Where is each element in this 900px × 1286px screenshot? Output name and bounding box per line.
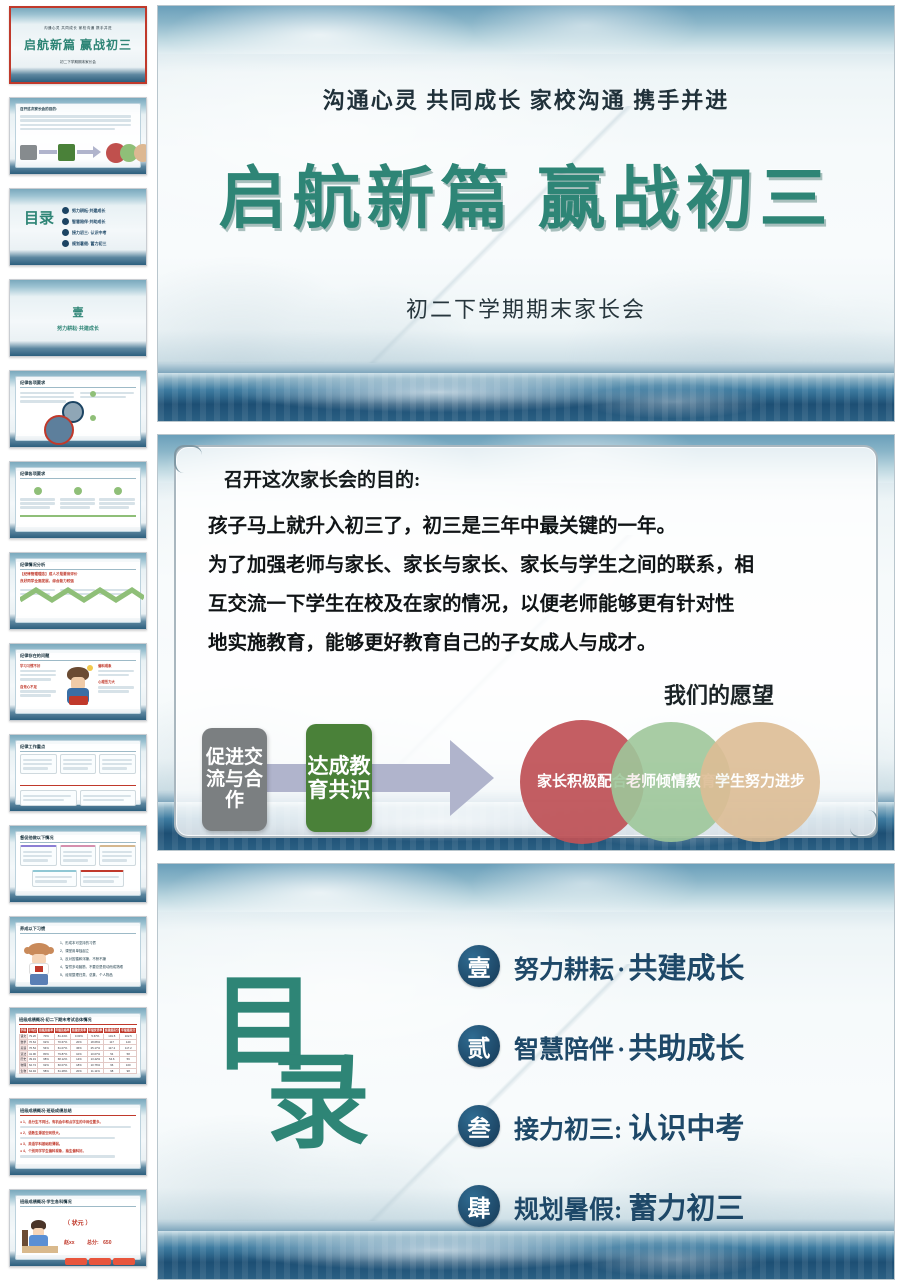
slide-title[interactable]: 沟通心灵 共同成长 家校沟通 携手并进 启航新篇 赢战初三 初二下学期期末家长会: [157, 5, 895, 422]
purpose-heading: 召开这次家长会的目的:: [224, 465, 420, 492]
contents-label-2-sep: ·: [614, 1037, 628, 1064]
title-slide-footer: 初二下学期期末家长会: [158, 292, 894, 324]
table-row: 生物64.9458%61.28%20%11.11%9898: [20, 1068, 137, 1074]
champion-total-label: 总分:: [87, 1240, 99, 1246]
wish-label: 我们的愿望: [664, 678, 774, 710]
thumb1-foot: 初二下学期期末家长会: [60, 60, 96, 65]
sidebar-thumbnail-11[interactable]: 养成以下习惯 1、形成本可坚持的习惯 2、课堂用单独起立 3、反对因循和浮躁，不…: [9, 916, 147, 994]
contents-badge-2: 贰: [458, 1025, 500, 1067]
presentation-viewer: 沟通心灵 共同成长 家校沟通 携手并进 启航新篇 赢战初三 初二下学期期末家长会…: [0, 0, 900, 1286]
purpose-line-2: 为了加强老师与家长、家长与家长、家长与学生之间的联系，相: [208, 546, 858, 585]
grade-table-cell: 20%: [71, 1068, 87, 1074]
sidebar-thumbnail-8[interactable]: 纪律存在的问题 学习习惯不好 自觉心不足 偏科现象 心理压力大: [9, 643, 147, 721]
slide-thumbnail-sidebar[interactable]: 沟通心灵 共同成长 家校沟通 携手并进 启航新篇 赢战初三 初二下学期期末家长会…: [0, 0, 155, 1286]
water-band: [158, 373, 894, 421]
sky-band: [158, 864, 894, 912]
thumb2-title: 召开这次家长会的目的:: [20, 107, 136, 112]
sidebar-thumbnail-3[interactable]: 目录 努力耕耘·共建成长 智慧陪伴·共助成长 接力初三: 认识中考 规划暑假: …: [9, 188, 147, 266]
wish-circle-3: 学生努力进步: [700, 722, 820, 842]
grade-table-cell: 98: [120, 1068, 137, 1074]
slide-contents[interactable]: 目 录 壹 努力耕耘·共建成长 贰 智慧陪伴·共助成长 叁: [157, 863, 895, 1280]
contents-label-4-a: 规划暑假:: [514, 1197, 622, 1224]
contents-heading-char-2: 录: [266, 1052, 370, 1156]
champion-badge: 状元: [72, 1221, 84, 1227]
contents-item-3[interactable]: 叁 接力初三:认识中考: [458, 1086, 878, 1166]
contents-heading: 目 录: [204, 974, 384, 1204]
champion-total-value: 650: [103, 1240, 111, 1246]
contents-label-2-a: 智慧陪伴: [514, 1037, 614, 1064]
thumb6-title: 纪律各项要求: [20, 471, 136, 479]
thumb12-title: 班级成绩概况-初二下期末考试总体情况: [19, 1017, 137, 1025]
contents-item-2[interactable]: 贰 智慧陪伴·共助成长: [458, 1006, 878, 1086]
sidebar-thumbnail-10[interactable]: 督促他做以下情况: [9, 825, 147, 903]
thumb1-title: 启航新篇 赢战初三: [24, 36, 132, 53]
grade-table-cell: 64.94: [27, 1068, 38, 1074]
purpose-line-3: 互交流一下学生在校及在家的情况，以便老师能够更有针对性: [208, 585, 858, 624]
thumb13-title: 班级成绩概况-班级成绩总结: [20, 1108, 136, 1116]
contents-label-4-b: 蓄力初三: [628, 1193, 744, 1225]
flow-arrow-head: [450, 740, 494, 816]
sidebar-thumbnail-6[interactable]: 纪律各项要求: [9, 461, 147, 539]
sidebar-thumbnail-2[interactable]: 召开这次家长会的目的:: [9, 97, 147, 175]
thumb4-sub: 努力耕耘·共建成长: [57, 325, 99, 332]
sidebar-thumbnail-14[interactable]: 班级成绩概况-学生各科情况 （ 状元 ） 赵xx 总分: 650: [9, 1189, 147, 1267]
contents-label-4: 规划暑假:蓄力初三: [514, 1185, 744, 1227]
thumb11-title: 养成以下习惯: [20, 926, 136, 934]
grade-table-cell: 58%: [38, 1068, 54, 1074]
title-slide-subtitle: 沟通心灵 共同成长 家校沟通 携手并进: [158, 83, 894, 115]
slide-purpose[interactable]: 召开这次家长会的目的: 孩子马上就升入初三了，初三是三年中最关键的一年。 为了加…: [157, 434, 895, 851]
thumb14-title: 班级成绩概况-学生各科情况: [20, 1199, 136, 1207]
contents-label-1-a: 努力耕耘: [514, 957, 614, 984]
grade-table-cell: 生物: [20, 1068, 28, 1074]
sidebar-thumbnail-1[interactable]: 沟通心灵 共同成长 家校沟通 携手并进 启航新篇 赢战初三 初二下学期期末家长会: [9, 6, 147, 84]
purpose-line-4: 地实施教育，能够更好教育自己的子女成人与成才。: [208, 624, 858, 663]
contents-label-2-b: 共助成长: [628, 1033, 744, 1065]
contents-item-4[interactable]: 肆 规划暑假:蓄力初三: [458, 1166, 878, 1246]
grade-table: 学科平均分班级及格率年级及格率班级优秀率年级优秀率班级最高分年级最高分语文79.…: [19, 1027, 137, 1074]
title-slide-main-title: 启航新篇 赢战初三: [158, 143, 894, 242]
sky-band: [158, 6, 894, 54]
contents-label-1-b: 共建成长: [628, 953, 744, 985]
thumb3-mulu: 目录: [24, 213, 54, 226]
thumb5-title: 纪律各项要求: [20, 380, 136, 388]
sidebar-thumbnail-12[interactable]: 班级成绩概况-初二下期末考试总体情况 学科平均分班级及格率年级及格率班级优秀率年…: [9, 1007, 147, 1085]
grade-table-cell: 11.11%: [87, 1068, 103, 1074]
grade-table-cell: 98: [104, 1068, 120, 1074]
slide-scroll-area[interactable]: 沟通心灵 共同成长 家校沟通 携手并进 启航新篇 赢战初三 初二下学期期末家长会…: [155, 0, 900, 1286]
champion-name: 赵xx: [64, 1240, 75, 1246]
contents-item-1[interactable]: 壹 努力耕耘·共建成长: [458, 926, 878, 1006]
sidebar-thumbnail-5[interactable]: 纪律各项要求: [9, 370, 147, 448]
thumb4-number: 壹: [73, 304, 84, 320]
thumb9-title: 纪律工作重点: [20, 744, 136, 752]
purpose-line-1: 孩子马上就升入初三了，初三是三年中最关键的一年。: [208, 507, 858, 546]
contents-badge-1: 壹: [458, 945, 500, 987]
thumb8-title: 纪律存在的问题: [20, 653, 136, 661]
contents-label-3-b: 认识中考: [628, 1113, 744, 1145]
thumb1-sub: 沟通心灵 共同成长 家校沟通 携手并进: [44, 26, 112, 31]
purpose-diagram: 促进交流与合作 达成教育共识 家长积极配合 老师倾情教育 学生努力进步: [188, 716, 880, 844]
sidebar-thumbnail-4[interactable]: 壹 努力耕耘·共建成长: [9, 279, 147, 357]
grade-table-cell: 61.28%: [54, 1068, 70, 1074]
contents-label-3-a: 接力初三:: [514, 1117, 622, 1144]
thumb10-title: 督促他做以下情况: [20, 835, 136, 843]
thumb7-title: 纪律情况分析: [20, 562, 136, 570]
purpose-body: 孩子马上就升入初三了，初三是三年中最关键的一年。 为了加强老师与家长、家长与家长…: [208, 507, 858, 663]
contents-list[interactable]: 壹 努力耕耘·共建成长 贰 智慧陪伴·共助成长 叁 接力初三:认识中考: [458, 926, 878, 1246]
sidebar-thumbnail-13[interactable]: 班级成绩概况-班级成绩总结 ● 1、总分生不同比，有机会中和点学生的中间位置多。…: [9, 1098, 147, 1176]
contents-badge-3: 叁: [458, 1105, 500, 1147]
contents-label-1: 努力耕耘·共建成长: [514, 945, 744, 987]
sidebar-thumbnail-7[interactable]: 纪律情况分析 【纪律管理理念】成人才是要育评价 良好同学全面发展，综合能力较强: [9, 552, 147, 630]
flow-step-2: 达成教育共识: [306, 724, 372, 832]
sidebar-thumbnail-9[interactable]: 纪律工作重点: [9, 734, 147, 812]
contents-label-1-sep: ·: [614, 957, 628, 984]
contents-label-3: 接力初三:认识中考: [514, 1105, 744, 1147]
contents-label-2: 智慧陪伴·共助成长: [514, 1025, 744, 1067]
flow-step-1: 促进交流与合作: [202, 728, 267, 831]
contents-badge-4: 肆: [458, 1185, 500, 1227]
